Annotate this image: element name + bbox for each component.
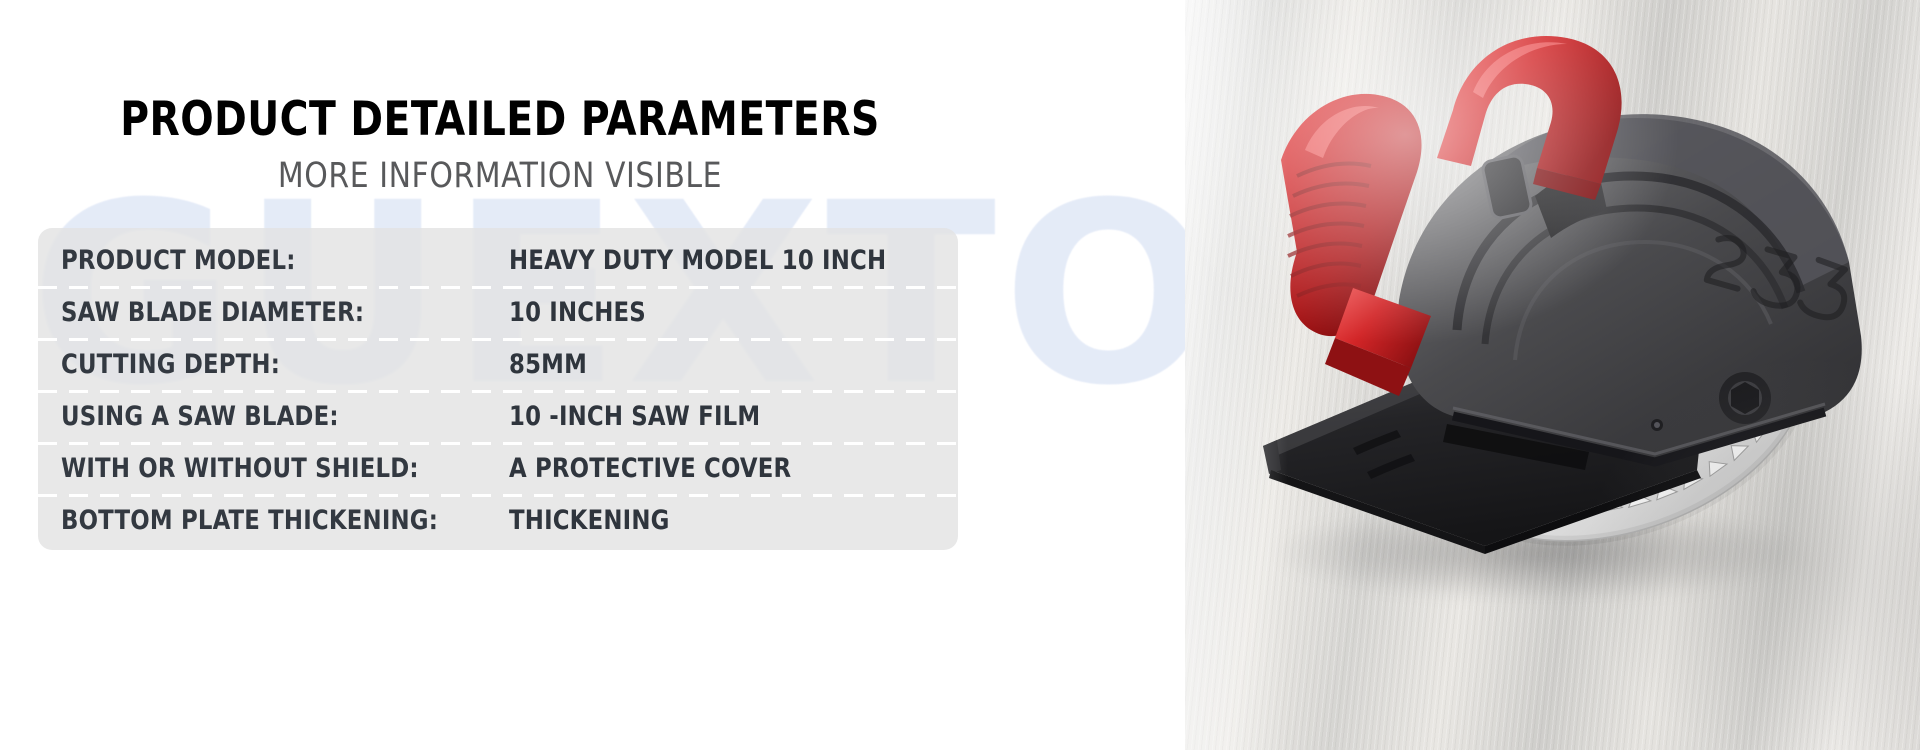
spec-label: USING A SAW BLADE: (61, 401, 482, 432)
left-content-panel: GUEXTO PRODUCT DETAILED PARAMETERS MORE … (0, 0, 1185, 750)
spec-label: PRODUCT MODEL: (61, 245, 482, 276)
table-row: WITH OR WITHOUT SHIELD: A PROTECTIVE COV… (38, 442, 958, 494)
spec-label: CUTTING DEPTH: (61, 349, 482, 380)
spec-label: WITH OR WITHOUT SHIELD: (61, 453, 482, 484)
product-parameters-banner: GUEXTO PRODUCT DETAILED PARAMETERS MORE … (0, 0, 1920, 750)
table-row: BOTTOM PLATE THICKENING: THICKENING (38, 494, 958, 546)
spec-label: BOTTOM PLATE THICKENING: (61, 505, 482, 536)
circular-saw-illustration (1185, 0, 1920, 750)
front-handle-group (1281, 94, 1431, 396)
table-row: SAW BLADE DIAMETER: 10 INCHES (38, 286, 958, 338)
spec-value: THICKENING (509, 505, 931, 536)
spec-table: PRODUCT MODEL: HEAVY DUTY MODEL 10 INCH … (38, 228, 958, 546)
page-subtitle: MORE INFORMATION VISIBLE (25, 156, 975, 196)
page-title: PRODUCT DETAILED PARAMETERS (35, 92, 965, 147)
spec-label: SAW BLADE DIAMETER: (61, 297, 482, 328)
spec-value: 10 -INCH SAW FILM (509, 401, 931, 432)
spec-value: A PROTECTIVE COVER (509, 453, 931, 484)
title-block: PRODUCT DETAILED PARAMETERS MORE INFORMA… (0, 92, 1000, 196)
table-row: PRODUCT MODEL: HEAVY DUTY MODEL 10 INCH (38, 234, 958, 286)
table-row: CUTTING DEPTH: 85MM (38, 338, 958, 390)
spec-value: 85MM (509, 349, 931, 380)
spec-table-card: PRODUCT MODEL: HEAVY DUTY MODEL 10 INCH … (38, 228, 958, 550)
saw-body-group (1398, 114, 1862, 462)
spec-value: HEAVY DUTY MODEL 10 INCH (509, 245, 931, 276)
product-photo-panel (1185, 0, 1920, 750)
table-row: USING A SAW BLADE: 10 -INCH SAW FILM (38, 390, 958, 442)
spec-value: 10 INCHES (509, 297, 931, 328)
